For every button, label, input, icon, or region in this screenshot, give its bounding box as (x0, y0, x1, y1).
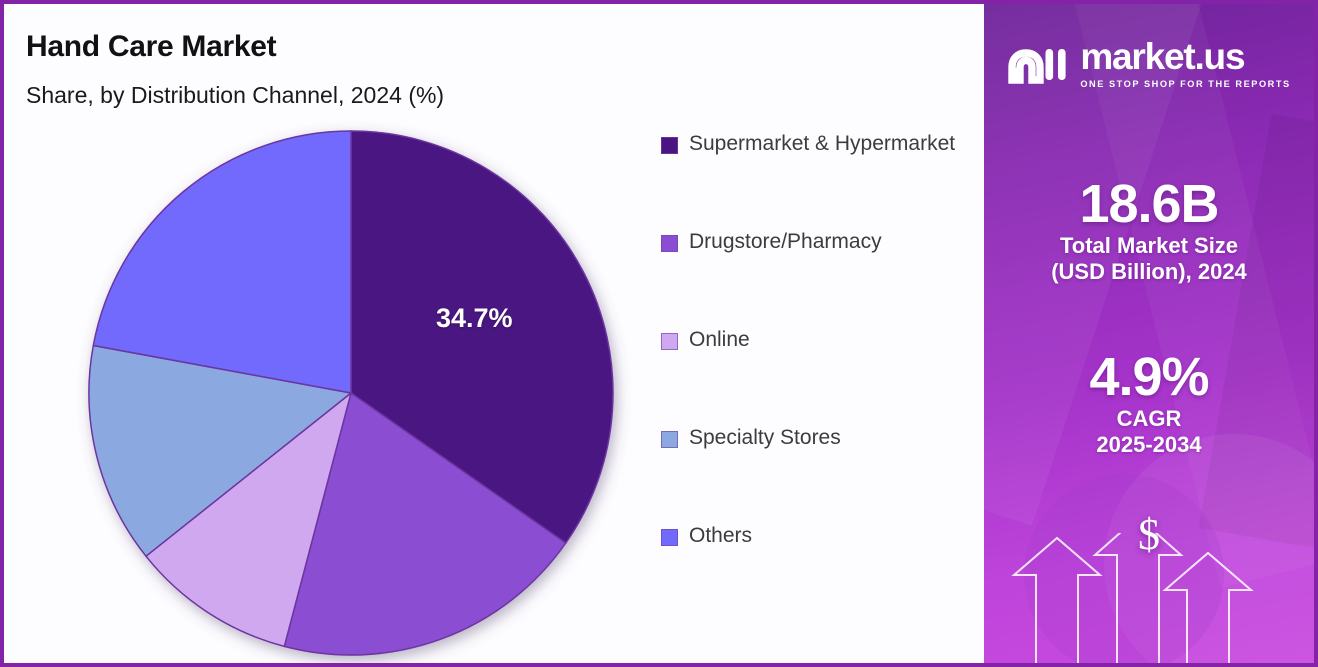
legend-item-specialty-stores[interactable]: Specialty Stores (661, 426, 841, 451)
legend-label-supermarket-hypermarket: Supermarket & Hypermarket (689, 132, 955, 157)
pie-slices-group (89, 131, 613, 655)
stat-caption-cagr-line2: 2025-2034 (984, 432, 1314, 458)
page-subtitle: Share, by Distribution Channel, 2024 (%) (26, 82, 444, 109)
legend-swatch-icon-others (661, 529, 678, 546)
side-panel: market.us ONE STOP SHOP FOR THE REPORTS … (984, 4, 1314, 663)
pie-chart-svg (65, 107, 645, 667)
arrow-up-left (1014, 538, 1100, 663)
legend-label-drugstore-pharmacy: Drugstore/Pharmacy (689, 230, 882, 255)
brand-name: market.us (1080, 38, 1290, 75)
stat-cagr: 4.9% CAGR 2025-2034 (984, 349, 1314, 458)
market-us-logo-icon (1007, 40, 1069, 88)
stat-value-market-size: 18.6B (984, 176, 1314, 233)
pie-chart: 34.7% (65, 107, 645, 667)
legend-label-online: Online (689, 328, 750, 353)
legend-item-online[interactable]: Online (661, 328, 750, 353)
arrow-up-right (1165, 553, 1251, 663)
brand-text-block: market.us ONE STOP SHOP FOR THE REPORTS (1080, 38, 1290, 89)
stat-caption-cagr-line1: CAGR (984, 406, 1314, 432)
legend-swatch-icon-drugstore-pharmacy (661, 235, 678, 252)
legend-label-specialty-stores: Specialty Stores (689, 426, 841, 451)
stat-total-market-size: 18.6B Total Market Size (USD Billion), 2… (984, 176, 1314, 285)
stat-caption-market-size-line1: Total Market Size (984, 233, 1314, 259)
stat-caption-market-size-line2: (USD Billion), 2024 (984, 259, 1314, 285)
growth-arrows-icon (984, 533, 1314, 663)
page-title: Hand Care Market (26, 30, 276, 64)
chart-panel: Hand Care Market Share, by Distribution … (4, 4, 988, 663)
legend-item-others[interactable]: Others (661, 524, 752, 549)
brand-logo: market.us ONE STOP SHOP FOR THE REPORTS (984, 38, 1314, 89)
legend-swatch-icon-online (661, 333, 678, 350)
legend-item-drugstore-pharmacy[interactable]: Drugstore/Pharmacy (661, 230, 882, 255)
subtitle-unit: (%) (408, 82, 444, 108)
legend-swatch-icon-specialty-stores (661, 431, 678, 448)
subtitle-suffix: , 2024 (338, 82, 408, 108)
legend-swatch-icon-supermarket-hypermarket (661, 137, 678, 154)
infographic-canvas: Hand Care Market Share, by Distribution … (0, 0, 1318, 667)
subtitle-emphasis: Distribution Channel (131, 82, 338, 108)
arrow-up-center (1095, 533, 1181, 663)
legend-label-others: Others (689, 524, 752, 549)
stat-value-cagr: 4.9% (984, 349, 1314, 406)
subtitle-prefix: Share, by (26, 82, 131, 108)
brand-tagline: ONE STOP SHOP FOR THE REPORTS (1080, 79, 1290, 89)
legend-item-supermarket-hypermarket[interactable]: Supermarket & Hypermarket (661, 132, 955, 157)
